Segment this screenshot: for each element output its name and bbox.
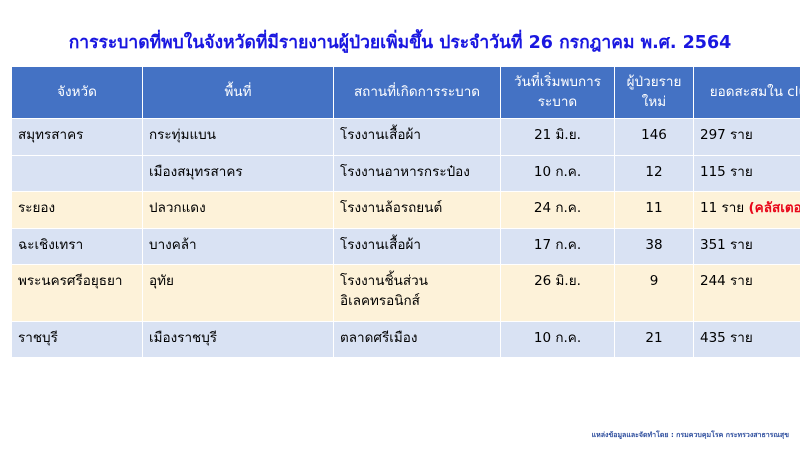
cell-new-cases: 21 [615,322,693,358]
cell-place-line1: โรงงานอาหารกระป๋อง [340,163,494,183]
table-header-row: จังหวัด พื้นที่ สถานที่เกิดการระบาด วันท… [12,67,800,118]
cell-place: โรงงานเสื้อผ้า [334,119,500,155]
table-row: ฉะเชิงเทรา บางคล้า โรงงานเสื้อผ้า 17 ก.ค… [12,229,800,265]
cell-cluster-total: 297 ราย [694,119,800,155]
cell-cluster-total: 115 ราย [694,156,800,192]
cell-new-cases: 38 [615,229,693,265]
cell-place: โรงงานอาหารกระป๋อง [334,156,500,192]
cell-cluster-total: 435 ราย [694,322,800,358]
cell-new-cases: 146 [615,119,693,155]
cluster-total-value: 351 ราย [700,237,753,253]
cell-new-cases: 11 [615,192,693,228]
table-row: สมุทรสาคร กระทุ่มแบน โรงงานเสื้อผ้า 21 ม… [12,119,800,155]
cell-area: กระทุ่มแบน [143,119,333,155]
cell-area: อุทัย [143,265,333,320]
column-header-province: จังหวัด [12,67,142,118]
cluster-total-value: 297 ราย [700,127,753,143]
cell-area: บางคล้า [143,229,333,265]
cell-place-line1: โรงงานชิ้นส่วน [340,272,494,292]
page-title: การระบาดที่พบในจังหวัดที่มีรายงานผู้ป่วย… [0,28,800,56]
cell-cluster-total: 244 ราย [694,265,800,320]
new-cluster-badge: (คลัสเตอร์ใหม่) [749,200,800,216]
cell-area: เมืองราชบุรี [143,322,333,358]
cell-place: โรงงานเสื้อผ้า [334,229,500,265]
cell-place: ตลาดศรีเมือง [334,322,500,358]
cell-province: พระนครศรีอยุธยา [12,265,142,320]
cell-place-line1: ตลาดศรีเมือง [340,329,494,349]
cell-area: เมืองสมุทรสาคร [143,156,333,192]
cell-place: โรงงานชิ้นส่วน อิเลคทรอนิกส์ [334,265,500,320]
table-row: ระยอง ปลวกแดง โรงงานล้อรถยนต์ 24 ก.ค. 11… [12,192,800,228]
cell-new-cases: 9 [615,265,693,320]
cell-place-line1: โรงงานล้อรถยนต์ [340,199,494,219]
cell-province: ราชบุรี [12,322,142,358]
column-header-new-cases: ผู้ป่วยรายใหม่ [615,67,693,118]
cell-start-date: 24 ก.ค. [501,192,614,228]
cell-place: โรงงานล้อรถยนต์ [334,192,500,228]
cluster-total-value: 115 ราย [700,164,753,180]
column-header-area: พื้นที่ [143,67,333,118]
column-header-place: สถานที่เกิดการระบาด [334,67,500,118]
cell-cluster-total: 351 ราย [694,229,800,265]
outbreak-table: จังหวัด พื้นที่ สถานที่เกิดการระบาด วันท… [11,66,800,358]
cell-province: ระยอง [12,192,142,228]
column-header-cluster-total: ยอดสะสมใน cluster [694,67,800,118]
cell-province [12,156,142,192]
cell-new-cases: 12 [615,156,693,192]
cluster-total-value: 244 ราย [700,273,753,289]
column-header-start-date: วันที่เริ่มพบการระบาด [501,67,614,118]
table-row: ราชบุรี เมืองราชบุรี ตลาดศรีเมือง 10 ก.ค… [12,322,800,358]
cell-start-date: 10 ก.ค. [501,322,614,358]
cell-province: ฉะเชิงเทรา [12,229,142,265]
cell-start-date: 21 มิ.ย. [501,119,614,155]
cell-start-date: 10 ก.ค. [501,156,614,192]
cell-province: สมุทรสาคร [12,119,142,155]
cell-place-line1: โรงงานเสื้อผ้า [340,126,494,146]
cell-area: ปลวกแดง [143,192,333,228]
cell-start-date: 26 มิ.ย. [501,265,614,320]
cluster-total-value: 11 ราย [700,200,744,216]
cell-start-date: 17 ก.ค. [501,229,614,265]
table-body: สมุทรสาคร กระทุ่มแบน โรงงานเสื้อผ้า 21 ม… [12,119,800,357]
table-row: พระนครศรีอยุธยา อุทัย โรงงานชิ้นส่วน อิเ… [12,265,800,320]
table-row: เมืองสมุทรสาคร โรงงานอาหารกระป๋อง 10 ก.ค… [12,156,800,192]
cell-place-line1: โรงงานเสื้อผ้า [340,236,494,256]
cell-cluster-total: 11 ราย (คลัสเตอร์ใหม่) [694,192,800,228]
cluster-total-value: 435 ราย [700,330,753,346]
cell-place-line2: อิเลคทรอนิกส์ [340,292,494,312]
table-header: จังหวัด พื้นที่ สถานที่เกิดการระบาด วันท… [12,67,800,118]
source-attribution: แหล่งข้อมูลและจัดทำโดย : กรมควบคุมโรค กร… [0,430,789,441]
